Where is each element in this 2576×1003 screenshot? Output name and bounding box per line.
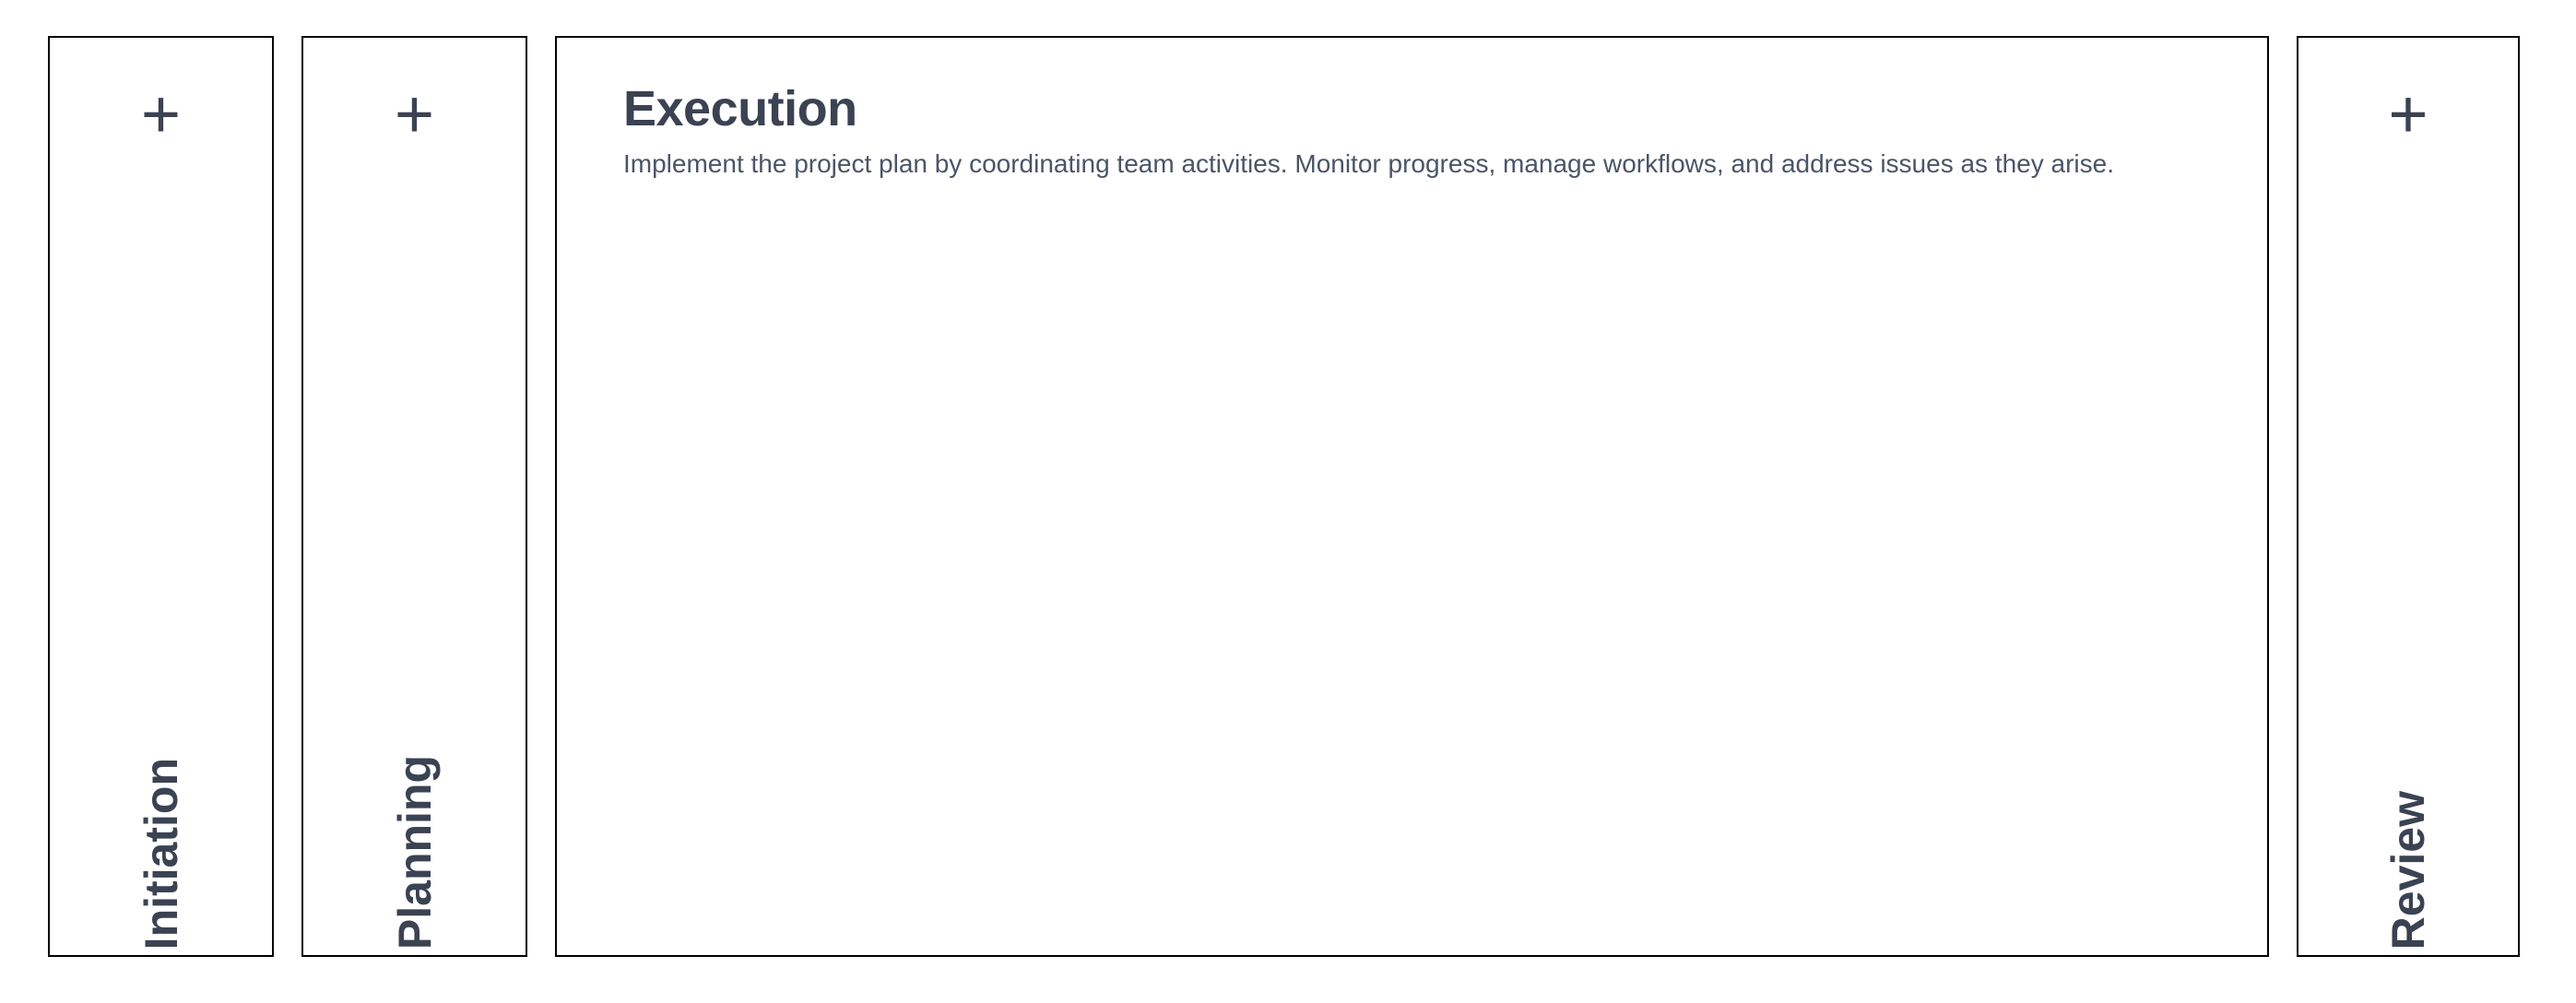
plus-icon[interactable]: + [395,75,434,154]
accordion-panel-review[interactable]: + Review [2297,36,2520,957]
accordion-panel-label-planning[interactable]: Planning [392,755,438,950]
accordion-panel-title-execution: Execution [623,82,2201,136]
accordion-panel-initiation[interactable]: + Initiation [48,36,274,957]
accordion-panel-body-execution: Implement the project plan by coordinati… [623,145,2200,184]
vertical-label-container: Review [2298,154,2518,955]
accordion-panel-execution[interactable]: Execution Implement the project plan by … [555,36,2269,957]
vertical-label-container: Planning [303,154,526,955]
accordion-panel-planning[interactable]: + Planning [301,36,527,957]
plus-icon[interactable]: + [141,75,181,154]
vertical-label-container: Initiation [50,154,272,955]
accordion-panel-label-review[interactable]: Review [2385,791,2431,950]
accordion-panel-label-initiation[interactable]: Initiation [138,758,184,950]
horizontal-accordion: + Initiation + Planning Execution Implem… [48,36,2520,957]
plus-icon[interactable]: + [2388,75,2428,154]
